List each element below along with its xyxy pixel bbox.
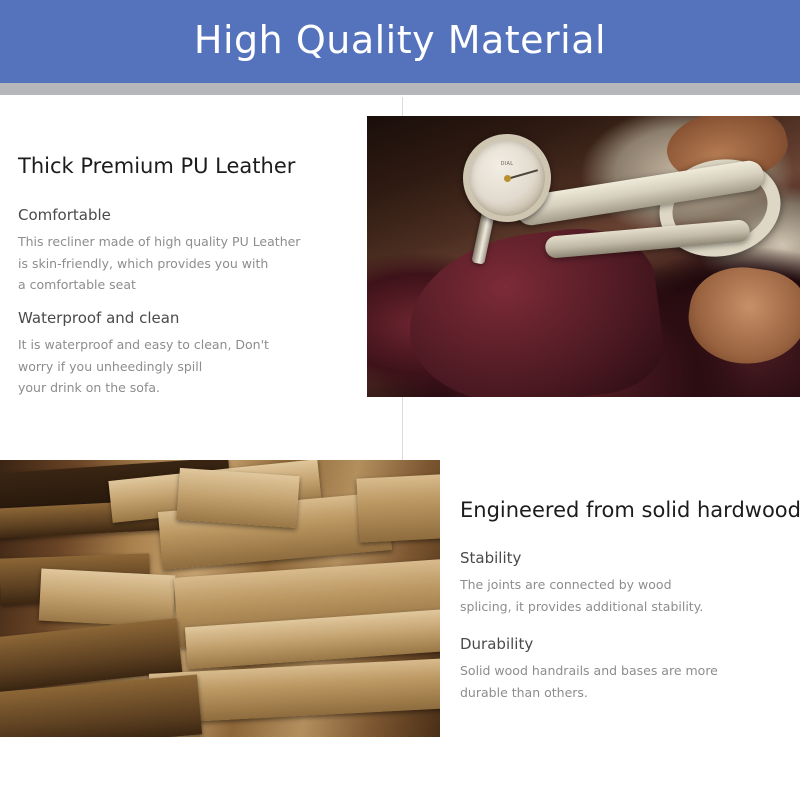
subheading-stability: Stability — [460, 549, 521, 567]
subheading-waterproof-and-clean: Waterproof and clean — [18, 309, 179, 327]
gauge-hub-shape — [504, 175, 511, 182]
gauge-dial-icon: DIAL — [463, 134, 551, 222]
page-title: High Quality Material — [194, 21, 606, 63]
body-durability: Solid wood handrails and bases are more … — [460, 660, 790, 703]
body-waterproof-and-clean: It is waterproof and easy to clean, Don'… — [18, 334, 348, 399]
body-stability: The joints are connected by wood splicin… — [460, 574, 790, 617]
gauge-face-label: DIAL — [501, 161, 514, 167]
stacked-hardwood-lumber-photo — [0, 460, 440, 737]
footer-whitespace — [0, 737, 800, 800]
leather-thickness-gauge-photo: DIAL — [367, 116, 800, 397]
hand-lower-icon — [683, 260, 800, 371]
plank-shape — [356, 473, 440, 542]
section-heading-solid-hardwood: Engineered from solid hardwood — [460, 498, 800, 522]
plank-shape — [39, 569, 176, 628]
gauge-needle-shape — [507, 169, 538, 180]
page-header-banner: High Quality Material — [0, 0, 800, 83]
plank-shape — [176, 468, 299, 528]
header-underbar — [0, 83, 800, 95]
subheading-durability: Durability — [460, 635, 533, 653]
section-heading-pu-leather: Thick Premium PU Leather — [18, 154, 295, 178]
subheading-comfortable: Comfortable — [18, 206, 111, 224]
body-comfortable: This recliner made of high quality PU Le… — [18, 231, 348, 296]
